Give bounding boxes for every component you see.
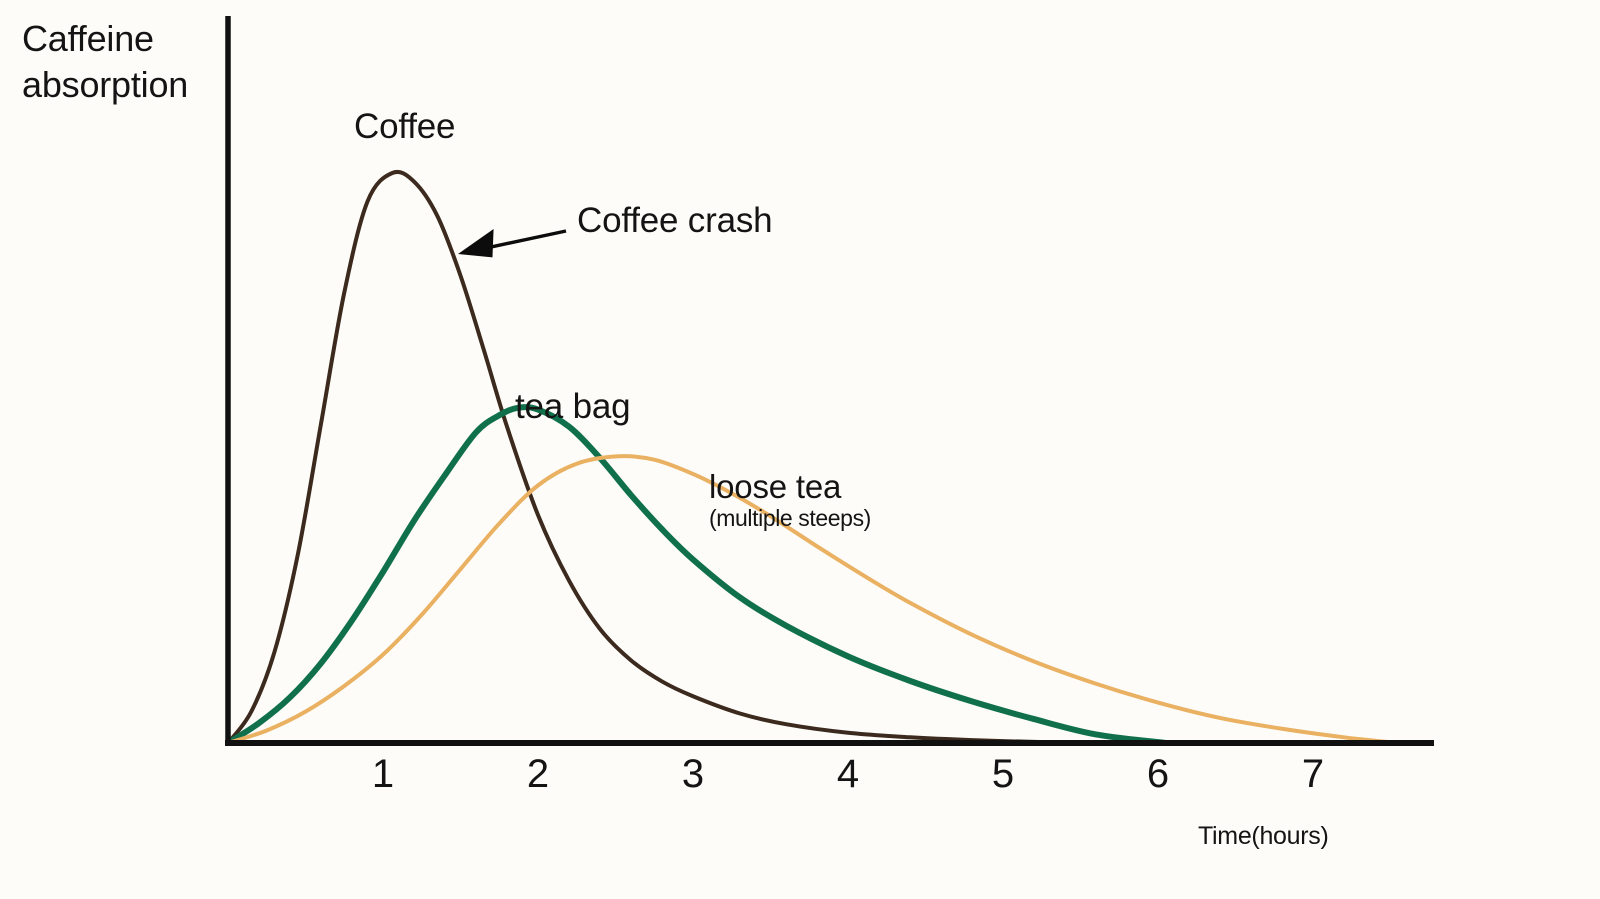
x-tick-label-3: 3 xyxy=(663,752,723,797)
series-curve-tea xyxy=(228,407,1166,743)
x-tick-label-5: 5 xyxy=(973,752,1033,797)
chart-canvas: Caffeineabsorption Coffee Coffee crash t… xyxy=(0,0,1600,899)
annotation-coffee-crash: Coffee crash xyxy=(577,200,772,241)
y-axis-title: Caffeineabsorption xyxy=(22,16,188,108)
x-tick-label-2: 2 xyxy=(508,752,568,797)
y-axis-title-line2: absorption xyxy=(22,64,188,105)
caffeine-absorption-plot xyxy=(0,0,1600,899)
x-axis-title: Time(hours) xyxy=(1198,822,1329,852)
series-layer xyxy=(228,172,1398,743)
x-tick-label-7: 7 xyxy=(1283,752,1343,797)
y-axis-title-line1: Caffeine xyxy=(22,18,154,59)
series-label-coffee: Coffee xyxy=(354,106,455,147)
series-label-loose-tea: loose tea xyxy=(709,468,841,507)
coffee-crash-arrowhead xyxy=(458,229,494,257)
series-sublabel-loose-tea: (multiple steeps) xyxy=(709,505,871,532)
x-tick-label-1: 1 xyxy=(353,752,413,797)
series-curve-coffee xyxy=(228,172,1158,743)
series-label-tea-bag: tea bag xyxy=(515,386,630,427)
coffee-crash-arrow-shaft xyxy=(491,231,566,247)
x-tick-label-4: 4 xyxy=(818,752,878,797)
x-tick-label-6: 6 xyxy=(1128,752,1188,797)
